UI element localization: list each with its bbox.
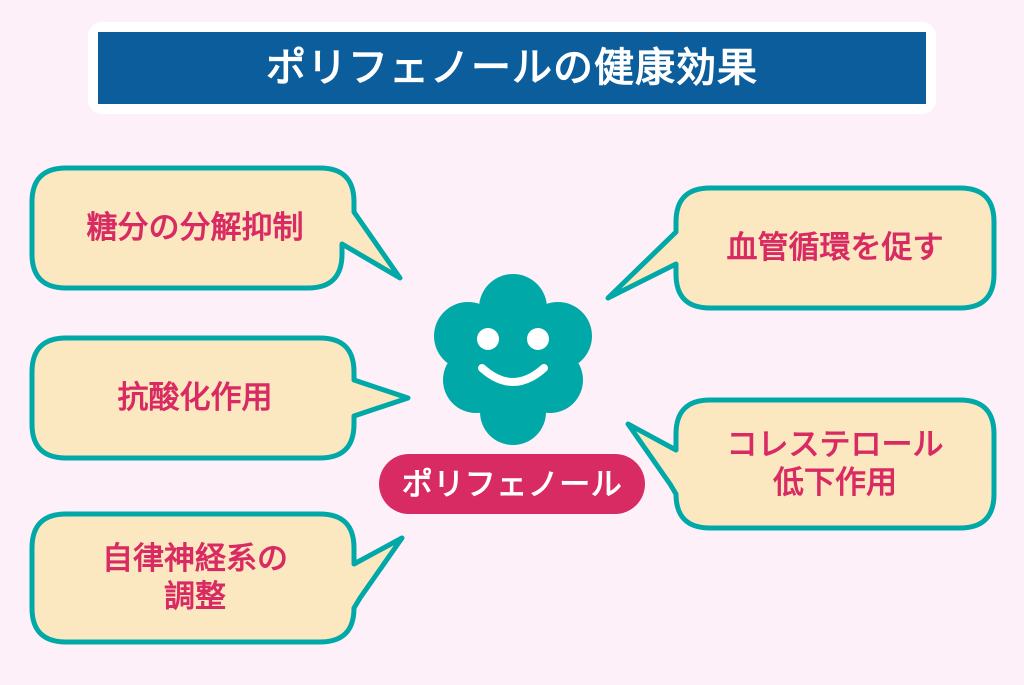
title-banner: ポリフェノールの健康効果 [98,32,926,104]
bubble-shape-sugar [30,166,430,290]
bubble-shape-autonomic-nerve [30,512,430,644]
benefit-bubble-antioxidant[interactable]: 抗酸化作用 [30,336,430,460]
benefit-bubble-cholesterol[interactable]: コレステロール 低下作用 [600,398,1000,530]
infographic-canvas: ポリフェノールの健康効果 糖分の分解抑制 抗酸化作用 自律神経系の 調整 [0,0,1024,685]
benefit-bubble-autonomic-nerve[interactable]: 自律神経系の 調整 [30,512,430,644]
center-label-polyphenol[interactable]: ポリフェノール [379,454,645,514]
benefit-bubble-blood-circulation[interactable]: 血管循環を促す [600,186,1000,310]
center-label-text: ポリフェノール [402,469,623,500]
page-title: ポリフェノールの健康効果 [266,48,758,88]
bubble-shape-antioxidant [30,336,430,460]
benefit-bubble-sugar[interactable]: 糖分の分解抑制 [30,166,430,290]
polyphenol-grape-mascot-icon [426,272,601,452]
bubble-shape-blood-circulation [600,186,1000,310]
bubble-shape-cholesterol [600,398,1000,530]
